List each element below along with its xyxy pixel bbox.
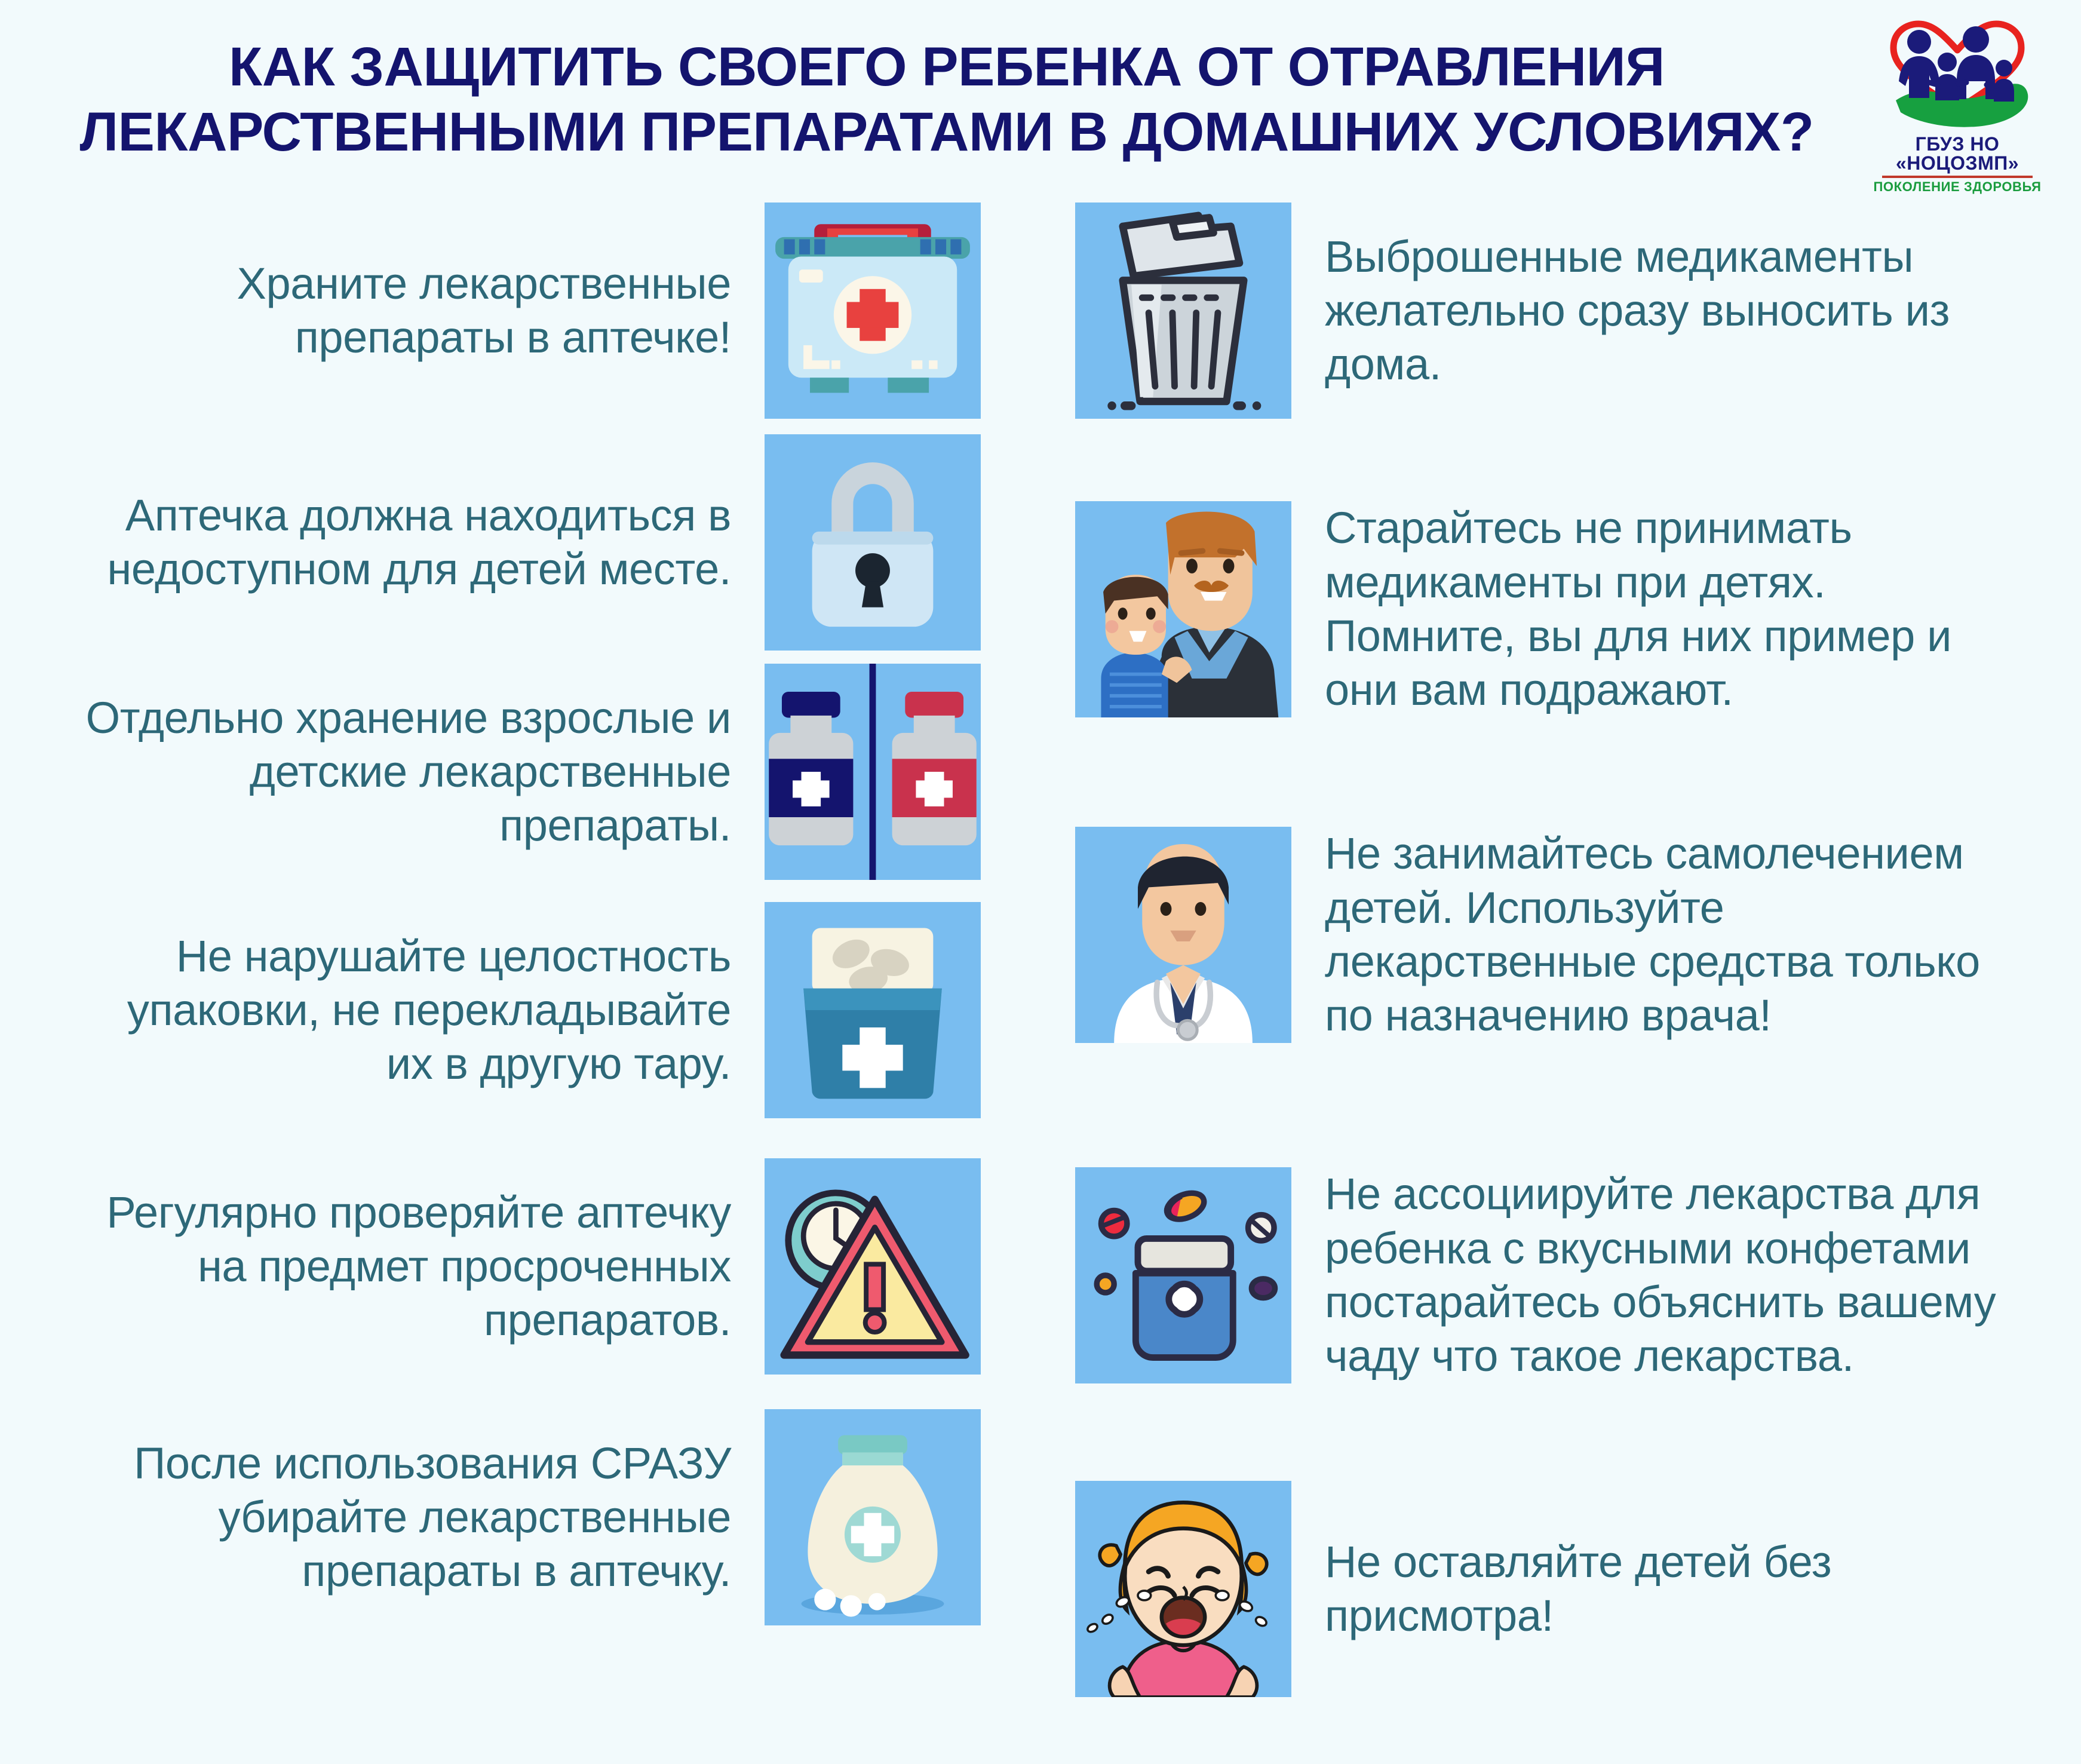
logo-divider xyxy=(1882,176,2033,178)
advice-text: Храните лекарственные препараты в аптечк… xyxy=(72,257,765,365)
advice-item-check-expiry: Регулярно проверяйте аптечку на предмет … xyxy=(72,1153,986,1380)
advice-board: Храните лекарственные препараты в аптечк… xyxy=(0,185,2081,1764)
advice-item-keep-out-of-reach: Аптечка должна находиться в недоступном … xyxy=(72,432,986,653)
advice-item-no-self-medication: Не занимайтесь самолечением детей. Испол… xyxy=(1075,806,2043,1063)
advice-text: Старайтесь не принимать медикаменты при … xyxy=(1291,501,2026,717)
logo-org-name: ГБУЗ НО «НОЦОЗМП» xyxy=(1859,134,2056,173)
advice-icon-tile xyxy=(765,1158,981,1375)
organization-logo: ГБУЗ НО «НОЦОЗМП» ПОКОЛЕНИЕ ЗДОРОВЬЯ xyxy=(1859,11,2056,181)
padlock-icon xyxy=(765,434,981,651)
advice-item-take-out-discarded: Выброшенные медикаменты желательно сразу… xyxy=(1075,200,2043,421)
advice-icon-tile xyxy=(765,1409,981,1625)
poster-header: КАК ЗАЩИТИТЬ СВОЕГО РЕБЕНКА ОТ ОТРАВЛЕНИ… xyxy=(0,0,2081,185)
advice-text: После использования СРАЗУ убирайте лекар… xyxy=(72,1437,765,1599)
advice-item-dont-take-in-front-of-kids: Старайтесь не принимать медикаменты при … xyxy=(1075,490,2043,729)
advice-text: Не ассоциируйте лекарства для ребенка с … xyxy=(1291,1167,2026,1383)
advice-text: Не нарушайте целостность упаковки, не пе… xyxy=(72,929,765,1091)
family-in-heart-on-hand-icon xyxy=(1859,11,2056,133)
trash-bin-icon xyxy=(1075,203,1291,419)
pill-jar-icon xyxy=(1075,1167,1291,1383)
poster-title: КАК ЗАЩИТИТЬ СВОЕГО РЕБЕНКА ОТ ОТРАВЛЕНИ… xyxy=(72,35,1822,164)
pill-package-icon xyxy=(765,902,981,1118)
advice-text: Отдельно хранение взрослые и детские лек… xyxy=(72,691,765,853)
advice-item-separate-adult-child: Отдельно хранение взрослые и детские лек… xyxy=(72,661,986,882)
advice-item-never-leave-unattended: Не оставляйте детей без присмотра! xyxy=(1075,1470,2043,1708)
advice-item-put-back-immediately: После использования СРАЗУ убирайте лекар… xyxy=(72,1398,986,1637)
crying-child-icon xyxy=(1075,1481,1291,1697)
doctor-icon xyxy=(1075,827,1291,1043)
advice-icon-tile xyxy=(765,902,981,1118)
poster-title-line-2: ЛЕКАРСТВЕННЫМИ ПРЕПАРАТАМИ В ДОМАШНИХ УС… xyxy=(72,100,1822,165)
clock-warning-icon xyxy=(765,1158,981,1375)
advice-text: Не оставляйте детей без присмотра! xyxy=(1291,1535,2026,1643)
advice-icon-tile xyxy=(1075,1167,1291,1383)
advice-icon-tile xyxy=(1075,501,1291,717)
advice-icon-tile xyxy=(1075,1481,1291,1697)
advice-text: Регулярно проверяйте аптечку на предмет … xyxy=(72,1186,765,1348)
advice-item-store-in-kit: Храните лекарственные препараты в аптечк… xyxy=(72,200,986,421)
advice-icon-tile xyxy=(765,664,981,880)
poster-title-line-1: КАК ЗАЩИТИТЬ СВОЕГО РЕБЕНКА ОТ ОТРАВЛЕНИ… xyxy=(229,36,1665,97)
advice-text: Не занимайтесь самолечением детей. Испол… xyxy=(1291,827,2026,1042)
advice-item-keep-original-package: Не нарушайте целостность упаковки, не пе… xyxy=(72,891,986,1130)
advice-text: Аптечка должна находиться в недоступном … xyxy=(72,489,765,597)
advice-icon-tile xyxy=(1075,827,1291,1043)
father-and-son-icon xyxy=(1075,501,1291,717)
advice-icon-tile xyxy=(765,434,981,651)
pill-bag-icon xyxy=(765,1409,981,1625)
advice-icon-tile xyxy=(1075,203,1291,419)
advice-item-not-candy: Не ассоциируйте лекарства для ребенка с … xyxy=(1075,1147,2043,1404)
advice-text: Выброшенные медикаменты желательно сразу… xyxy=(1291,230,2026,392)
first-aid-kit-icon xyxy=(765,203,981,419)
advice-icon-tile xyxy=(765,203,981,419)
two-medicine-bottles-icon xyxy=(765,664,981,880)
